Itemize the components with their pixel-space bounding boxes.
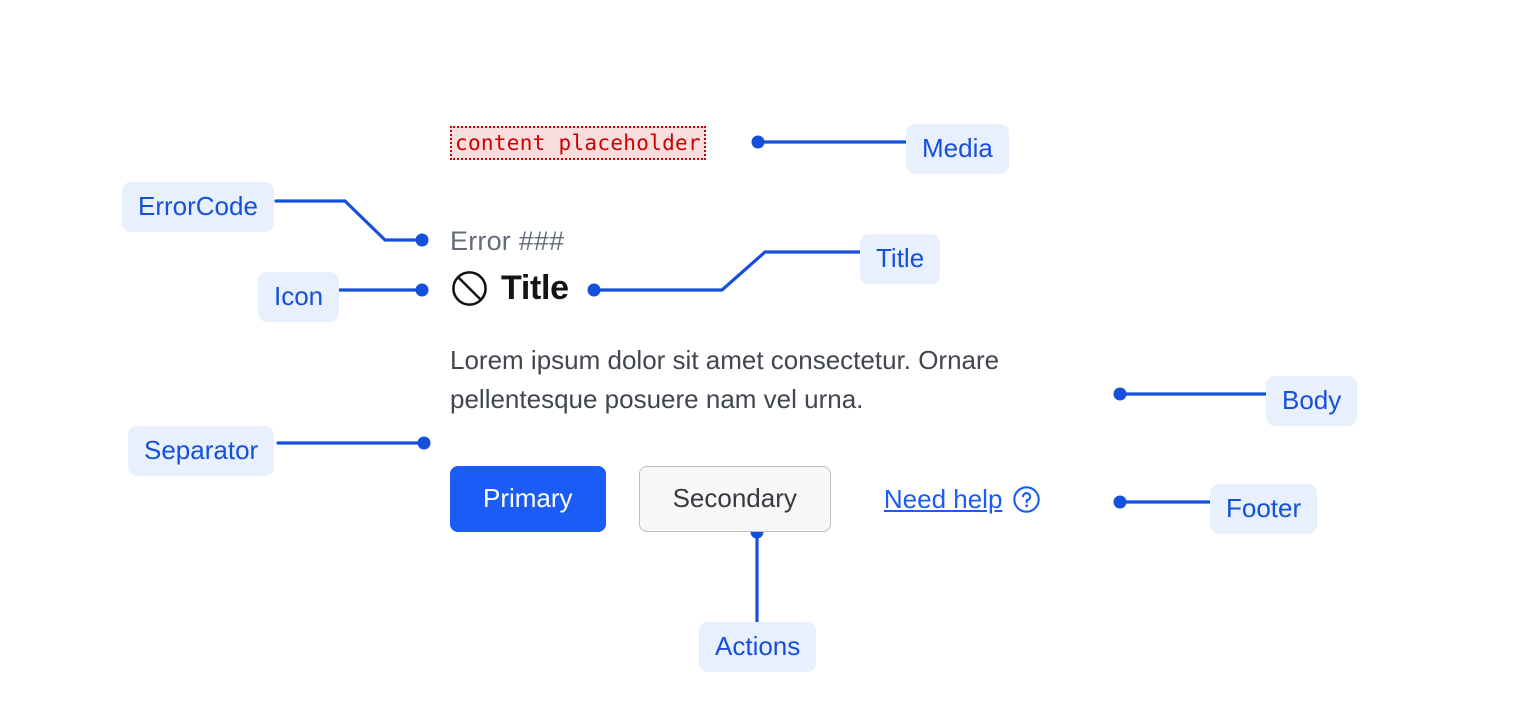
need-help-link[interactable]: Need help	[884, 485, 1042, 514]
secondary-button[interactable]: Secondary	[639, 466, 831, 532]
connector-dot-separator	[418, 437, 431, 450]
prohibited-icon	[450, 269, 489, 308]
question-circle-icon	[1012, 485, 1041, 514]
error-code-text: Error ###	[450, 225, 564, 257]
primary-button[interactable]: Primary	[450, 466, 606, 532]
title-row: Title	[450, 268, 569, 308]
annotation-badge-title[interactable]: Title	[860, 234, 940, 284]
connector-errorcode	[276, 201, 418, 240]
annotation-badge-errorcode[interactable]: ErrorCode	[122, 182, 274, 232]
annotation-badge-media[interactable]: Media	[906, 124, 1009, 174]
annotated-component-canvas: content placeholder Error ### Title Lore…	[0, 0, 1536, 724]
body-text: Lorem ipsum dolor sit amet consectetur. …	[450, 341, 1110, 419]
connector-title	[598, 252, 862, 290]
connector-dot-errorcode	[416, 234, 429, 247]
connector-dot-footer	[1114, 496, 1127, 509]
connector-dot-icon	[416, 284, 429, 297]
annotation-badge-icon[interactable]: Icon	[258, 272, 339, 322]
connector-dot-title	[588, 284, 601, 297]
media-content-placeholder: content placeholder	[450, 126, 706, 160]
connector-dot-media	[752, 136, 765, 149]
actions-row: Primary Secondary Need help	[450, 466, 1041, 532]
title-text: Title	[501, 268, 569, 308]
annotation-badge-actions[interactable]: Actions	[699, 622, 816, 672]
need-help-label: Need help	[884, 486, 1003, 512]
annotation-badge-separator[interactable]: Separator	[128, 426, 274, 476]
annotation-badge-footer[interactable]: Footer	[1210, 484, 1317, 534]
connector-dot-body	[1114, 388, 1127, 401]
annotation-badge-body[interactable]: Body	[1266, 376, 1357, 426]
